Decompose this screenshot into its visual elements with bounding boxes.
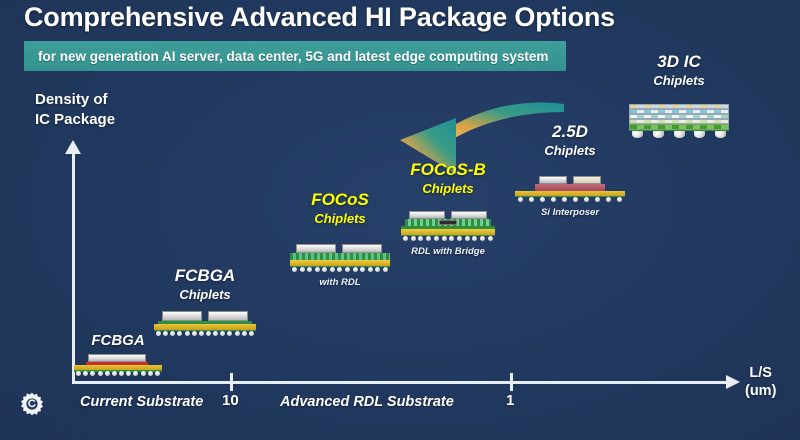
y-axis-label-line1: Density of bbox=[35, 90, 115, 110]
x-axis-zone-current-substrate: Current Substrate bbox=[80, 394, 203, 410]
node-fcbga-graphic bbox=[72, 354, 164, 378]
x-axis-label-line1: L/S bbox=[745, 364, 776, 382]
node-focos-graphic bbox=[288, 244, 392, 274]
subtitle-banner: for new generation AI server, data cente… bbox=[24, 41, 566, 71]
node-focos-b-name: FOCoS-B bbox=[386, 160, 510, 180]
x-axis-tick-1 bbox=[510, 373, 513, 391]
node-focos-b-graphic bbox=[399, 211, 497, 243]
x-axis-label: L/S (um) bbox=[745, 364, 776, 400]
slide-canvas: Comprehensive Advanced HI Package Option… bbox=[0, 0, 800, 440]
subtitle-banner-text: for new generation AI server, data cente… bbox=[24, 49, 548, 64]
node-fcbga-chiplets[interactable]: FCBGA Chiplets bbox=[140, 266, 270, 337]
x-axis-label-line2: (um) bbox=[745, 382, 776, 400]
x-axis-zone-advanced-rdl-substrate: Advanced RDL Substrate bbox=[280, 394, 454, 410]
node-2-5d-caption: Si Interposer bbox=[508, 207, 632, 218]
node-focos-b[interactable]: FOCoS-B Chiplets RDL with Bridge bbox=[386, 160, 510, 257]
node-fcbga[interactable]: FCBGA bbox=[62, 332, 174, 378]
node-3d-ic-name: 3D IC bbox=[613, 52, 745, 72]
node-2-5d-sub: Chiplets bbox=[508, 143, 632, 159]
node-focos[interactable]: FOCoS Chiplets with RDL bbox=[276, 190, 404, 288]
gear-icon bbox=[18, 390, 46, 418]
node-focos-b-caption: RDL with Bridge bbox=[386, 246, 510, 257]
page-title: Comprehensive Advanced HI Package Option… bbox=[24, 2, 615, 33]
y-axis-label-line2: IC Package bbox=[35, 110, 115, 130]
node-focos-name: FOCoS bbox=[276, 190, 404, 210]
y-axis-label: Density of IC Package bbox=[35, 90, 115, 131]
x-axis-arrow-icon bbox=[726, 375, 740, 389]
x-axis-tick-label-10: 10 bbox=[222, 392, 239, 409]
y-axis-arrow-icon bbox=[65, 140, 81, 154]
node-3d-ic-graphic bbox=[627, 104, 731, 142]
node-3d-ic-sub: Chiplets bbox=[613, 73, 745, 89]
x-axis-tick-10 bbox=[230, 373, 233, 391]
x-axis-tick-label-1: 1 bbox=[506, 392, 514, 409]
node-focos-b-sub: Chiplets bbox=[386, 181, 510, 197]
node-3d-ic[interactable]: 3D IC Chiplets bbox=[613, 52, 745, 142]
node-2-5d-graphic bbox=[515, 176, 625, 204]
node-fcbga-chiplets-name: FCBGA bbox=[140, 266, 270, 286]
node-focos-sub: Chiplets bbox=[276, 211, 404, 227]
node-fcbga-chiplets-sub: Chiplets bbox=[140, 287, 270, 303]
node-focos-caption: with RDL bbox=[276, 277, 404, 288]
x-axis-line bbox=[72, 381, 731, 384]
node-fcbga-chiplets-graphic bbox=[152, 311, 258, 337]
